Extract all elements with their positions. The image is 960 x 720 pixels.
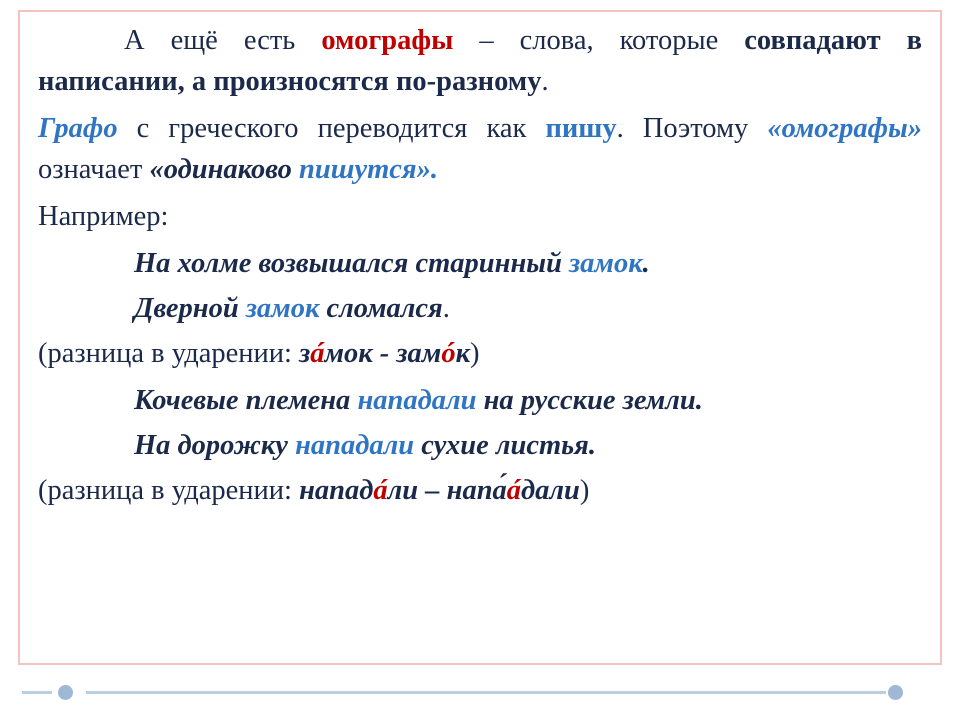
example-sentence-2: Дверной замок сломался. — [38, 288, 922, 329]
for-example-label: Например: — [38, 201, 168, 232]
note2-word1-stress: á — [373, 475, 387, 506]
example2-text-1: Дверной — [134, 293, 246, 324]
etymology-text-3: означает — [38, 154, 149, 185]
example4-text-2: сухие листья. — [414, 430, 596, 461]
note2-closing-paren: ) — [580, 475, 590, 506]
note2-word1-part2: ли – напа — [388, 475, 507, 506]
example-sentence-1: На холме возвышался старинный замок. — [38, 243, 922, 284]
note1-word2-stress: ó — [441, 338, 455, 369]
decorative-footer — [0, 680, 960, 704]
example2-keyword: замок — [246, 293, 320, 324]
example3-text-1: Кочевые племена — [134, 385, 357, 416]
paragraph-definition: А ещё есть омографы – слова, которые сов… — [38, 20, 922, 102]
definition-period: . — [541, 66, 548, 97]
example1-keyword: замок — [569, 248, 643, 279]
example-sentence-3: Кочевые племена нападали на русские земл… — [38, 380, 922, 421]
note1-word1-part1: з — [299, 338, 310, 369]
example4-keyword: нападали — [295, 430, 414, 461]
note-stress-2: (разница в ударении: нападáли – напа́áда… — [38, 470, 922, 511]
paragraph-for-example: Например: — [38, 196, 922, 237]
example3-text-2: на русские земли. — [476, 385, 702, 416]
definition-text-1: А ещё есть — [124, 25, 321, 56]
slide: А ещё есть омографы – слова, которые сов… — [0, 0, 960, 720]
term-omografy-quoted: «омографы» — [767, 113, 922, 144]
example-sentence-4: На дорожку нападали сухие листья. — [38, 425, 922, 466]
decor-dot-left — [58, 685, 73, 700]
example1-text-1: На холме возвышался старинный — [134, 248, 569, 279]
example2-text-2: сломался — [319, 293, 442, 324]
meaning-text-2: пишутся». — [299, 154, 438, 185]
note1-word2-part2: к — [456, 338, 470, 369]
note1-word1-stress: á — [310, 338, 324, 369]
greek-root-grafo: Графо — [38, 113, 118, 144]
note-stress-1: (разница в ударении: зáмок - замóк) — [38, 333, 922, 374]
term-omografy: омографы — [321, 25, 453, 56]
decor-dot-right — [888, 685, 903, 700]
note1-word1-part2: мок - зам — [324, 338, 441, 369]
definition-text-2: – слова, которые — [453, 25, 744, 56]
note2-word1-part1: напад — [299, 475, 373, 506]
example3-keyword: нападали — [357, 385, 476, 416]
example2-period: . — [443, 293, 450, 324]
meaning-text-1: «одинаково — [149, 154, 299, 185]
example1-period: . — [643, 248, 650, 279]
note2-text-1: (разница в ударении: — [38, 475, 299, 506]
paragraph-etymology: Графо с греческого переводится как пишу.… — [38, 108, 922, 190]
note2-word2-part2: дали — [521, 475, 580, 506]
etymology-text-2: . Поэтому — [617, 113, 768, 144]
note2-word2-stress: ́á — [507, 475, 521, 506]
etymology-text-1: с греческого переводится как — [118, 113, 546, 144]
note1-closing-paren: ) — [470, 338, 480, 369]
translation-pishu: пишу — [545, 113, 616, 144]
decor-line-left — [22, 691, 52, 694]
slide-content: А ещё есть омографы – слова, которые сов… — [28, 20, 934, 517]
note1-text-1: (разница в ударении: — [38, 338, 299, 369]
decor-line-middle — [86, 691, 886, 694]
example4-text-1: На дорожку — [134, 430, 295, 461]
